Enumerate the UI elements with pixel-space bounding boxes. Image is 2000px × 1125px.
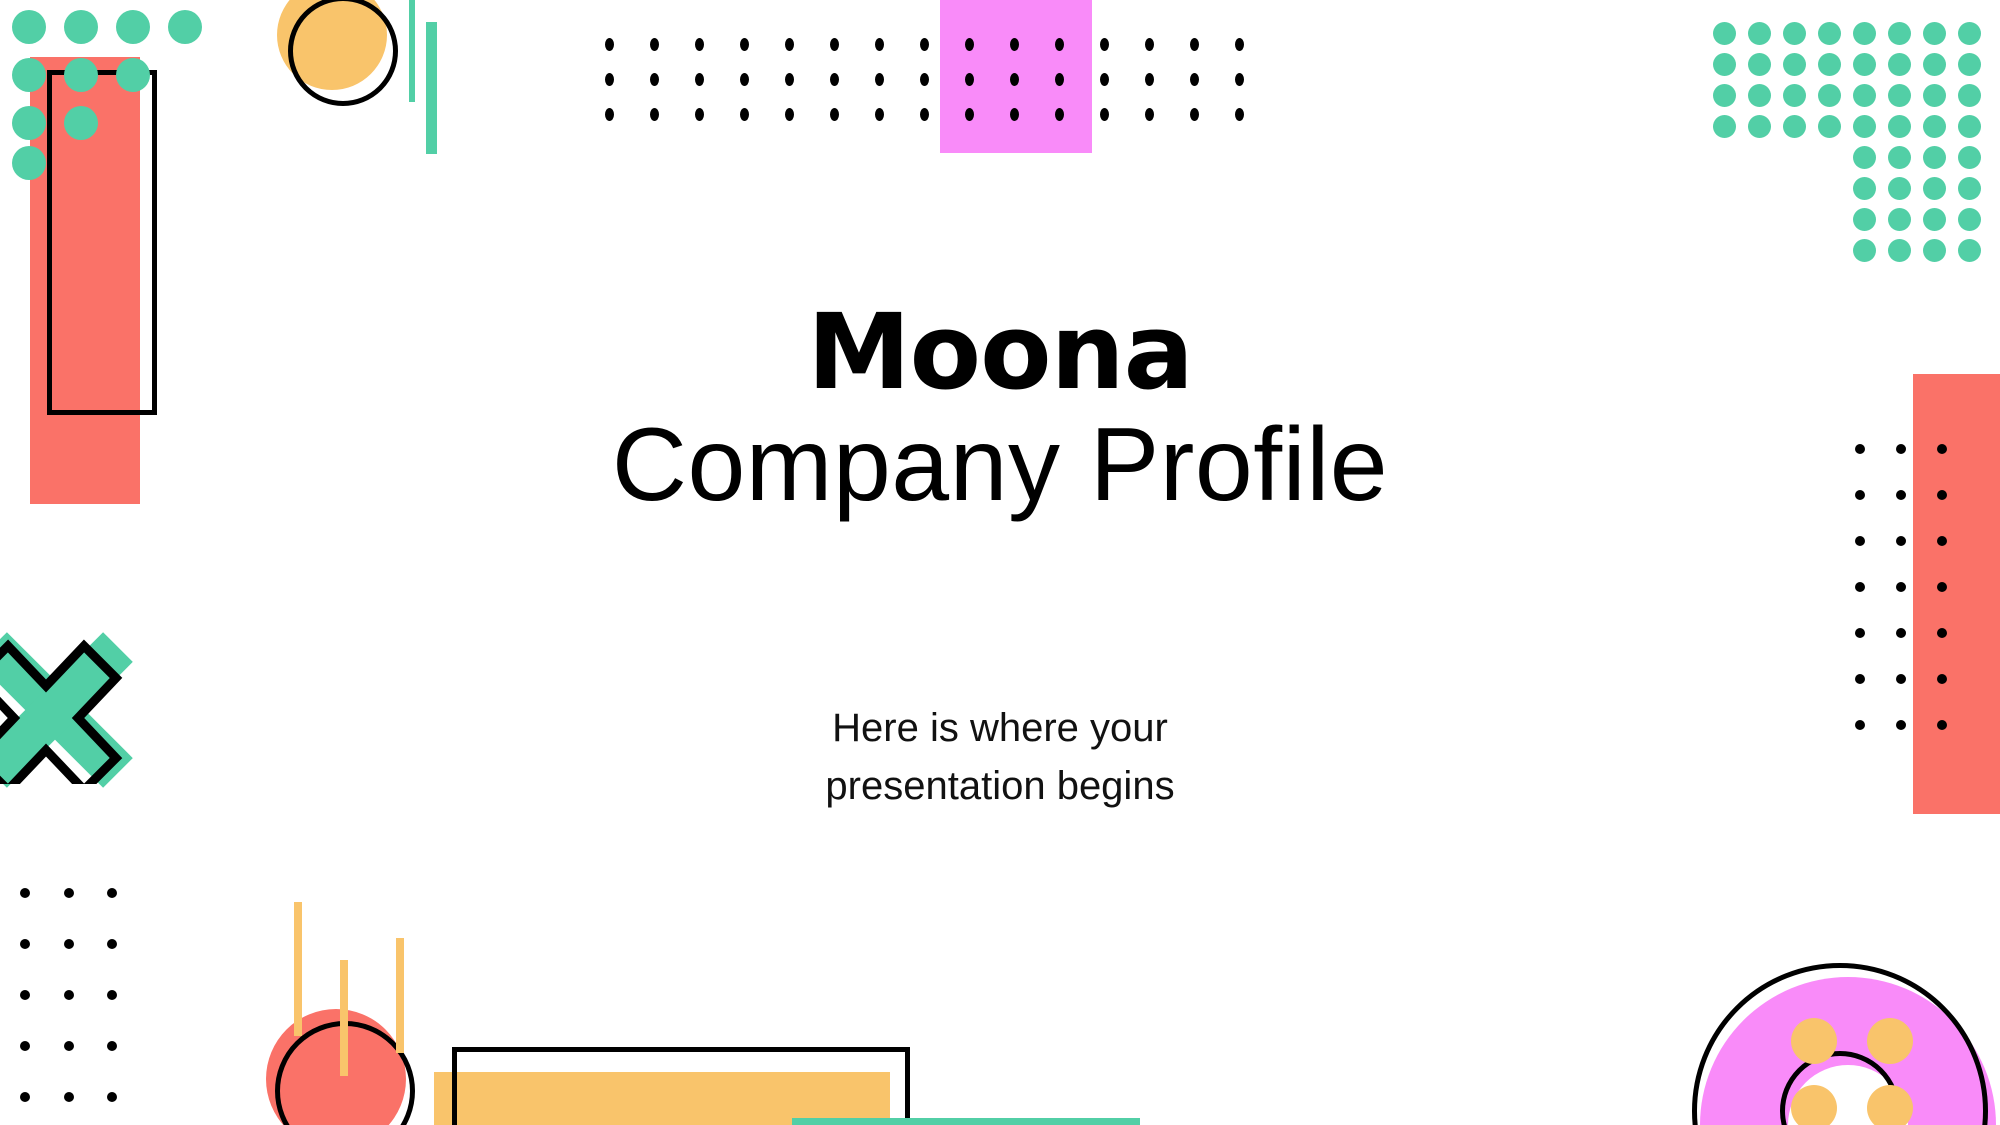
- teal-grid-dot: [1853, 239, 1876, 262]
- teal-grid-dot: [1888, 146, 1911, 169]
- grid-dot: [107, 939, 117, 949]
- grid-dot: [965, 108, 974, 121]
- grid-dot: [695, 38, 704, 51]
- grid-dot: [920, 38, 929, 51]
- teal-grid-dot: [1853, 115, 1876, 138]
- grid-dot: [1855, 536, 1865, 546]
- presentation-slide: Moona Company Profile Here is where your…: [0, 0, 2000, 1125]
- grid-dot: [1055, 73, 1064, 86]
- grid-dot: [1937, 536, 1947, 546]
- grid-dot: [1855, 582, 1865, 592]
- teal-grid-dot: [1923, 115, 1946, 138]
- grid-dot: [1190, 108, 1199, 121]
- teal-grid-dot: [1958, 53, 1981, 76]
- grid-dot: [875, 108, 884, 121]
- grid-dot: [920, 108, 929, 121]
- teal-grid-dot: [1958, 208, 1981, 231]
- grid-dot: [1937, 628, 1947, 638]
- teal-grid-dot: [1888, 84, 1911, 107]
- grid-dot: [1235, 108, 1244, 121]
- grid-dot: [107, 1092, 117, 1102]
- grid-dot: [1055, 38, 1064, 51]
- grid-dot: [740, 73, 749, 86]
- teal-grid-dot: [1888, 239, 1911, 262]
- outline-rectangle-bottom: [452, 1047, 910, 1125]
- teal-grid-dot: [1888, 115, 1911, 138]
- grid-dot: [1855, 720, 1865, 730]
- grid-dot: [1010, 108, 1019, 121]
- teal-grid-dot: [1783, 115, 1806, 138]
- grid-dot: [64, 1041, 74, 1051]
- grid-dot: [785, 38, 794, 51]
- grid-dot: [605, 73, 614, 86]
- grid-dot: [1145, 38, 1154, 51]
- yellow-vertical-line-tall: [294, 902, 302, 1036]
- teal-grid-dot: [1853, 84, 1876, 107]
- grid-dot: [1937, 674, 1947, 684]
- grid-dot: [64, 888, 74, 898]
- grid-dot: [875, 73, 884, 86]
- teal-grid-dot: [1958, 239, 1981, 262]
- teal-grid-dot: [1923, 177, 1946, 200]
- grid-dot: [20, 888, 30, 898]
- teal-grid-dot: [1923, 146, 1946, 169]
- teal-grid-dot: [1818, 84, 1841, 107]
- slide-tagline: Here is where your presentation begins: [400, 527, 1600, 815]
- grid-dot: [1855, 444, 1865, 454]
- yellow-circle-ring-bottom-right: [1867, 1085, 1913, 1125]
- grid-dot: [695, 73, 704, 86]
- teal-vertical-line-long: [426, 22, 437, 154]
- grid-dot: [1937, 444, 1947, 454]
- teal-grid-dot: [1748, 22, 1771, 45]
- outline-ring-bottom-right: [1692, 963, 1988, 1125]
- teal-dot: [12, 58, 46, 92]
- grid-dot: [1937, 720, 1947, 730]
- page-subtitle: Company Profile: [400, 404, 1600, 527]
- teal-grid-dot: [1958, 146, 1981, 169]
- teal-grid-dot: [1958, 177, 1981, 200]
- teal-grid-dot: [1923, 22, 1946, 45]
- teal-grid-dot: [1888, 22, 1911, 45]
- grid-dot: [740, 108, 749, 121]
- grid-dot: [605, 108, 614, 121]
- teal-grid-dot: [1958, 84, 1981, 107]
- yellow-vertical-line-mid: [340, 960, 348, 1076]
- grid-dot: [605, 38, 614, 51]
- grid-dot: [1896, 536, 1906, 546]
- teal-grid-dot: [1853, 22, 1876, 45]
- tagline-line-1: Here is where your: [832, 706, 1168, 750]
- teal-grid-dot: [1818, 115, 1841, 138]
- grid-dot: [20, 1092, 30, 1102]
- coral-rectangle-right: [1913, 374, 2000, 814]
- teal-dot: [116, 10, 150, 44]
- teal-grid-dot: [1783, 53, 1806, 76]
- grid-dot: [1896, 582, 1906, 592]
- teal-grid-dot: [1888, 53, 1911, 76]
- teal-grid-dot: [1783, 84, 1806, 107]
- teal-grid-dot: [1713, 22, 1736, 45]
- grid-dot: [1235, 73, 1244, 86]
- teal-grid-dot: [1748, 115, 1771, 138]
- teal-dot: [12, 146, 46, 180]
- teal-dot: [64, 106, 98, 140]
- grid-dot: [650, 38, 659, 51]
- teal-grid-dot: [1923, 84, 1946, 107]
- teal-grid-dot: [1888, 208, 1911, 231]
- grid-dot: [1100, 38, 1109, 51]
- teal-dot: [12, 106, 46, 140]
- teal-grid-dot: [1923, 239, 1946, 262]
- teal-grid-dot: [1783, 22, 1806, 45]
- teal-grid-dot: [1958, 22, 1981, 45]
- grid-dot: [650, 73, 659, 86]
- yellow-circle-ring-bottom-left: [1791, 1085, 1837, 1125]
- grid-dot: [875, 38, 884, 51]
- teal-dot: [64, 10, 98, 44]
- teal-dot: [64, 58, 98, 92]
- grid-dot: [20, 990, 30, 1000]
- teal-grid-dot: [1713, 115, 1736, 138]
- yellow-circle-ring-top-right: [1867, 1018, 1913, 1064]
- grid-dot: [1010, 73, 1019, 86]
- grid-dot: [64, 990, 74, 1000]
- grid-dot: [107, 1041, 117, 1051]
- grid-dot: [1145, 73, 1154, 86]
- grid-dot: [1055, 108, 1064, 121]
- teal-grid-dot: [1748, 53, 1771, 76]
- grid-dot: [1100, 108, 1109, 121]
- cross-outline-svg: [0, 624, 170, 784]
- grid-dot: [785, 108, 794, 121]
- grid-dot: [1896, 720, 1906, 730]
- grid-dot: [965, 38, 974, 51]
- page-title: Moona: [400, 300, 1600, 404]
- grid-dot: [1100, 73, 1109, 86]
- yellow-vertical-line-short: [396, 938, 404, 1053]
- grid-dot: [920, 73, 929, 86]
- grid-dot: [1896, 490, 1906, 500]
- tagline-line-2: presentation begins: [825, 764, 1174, 808]
- grid-dot: [1896, 674, 1906, 684]
- grid-dot: [1896, 444, 1906, 454]
- teal-grid-dot: [1713, 53, 1736, 76]
- grid-dot: [1855, 628, 1865, 638]
- teal-grid-dot: [1853, 53, 1876, 76]
- grid-dot: [1190, 38, 1199, 51]
- grid-dot: [64, 1092, 74, 1102]
- teal-grid-dot: [1958, 115, 1981, 138]
- teal-dot: [168, 10, 202, 44]
- grid-dot: [650, 108, 659, 121]
- teal-horizontal-line: [792, 1118, 1140, 1125]
- grid-dot: [830, 38, 839, 51]
- grid-dot: [1235, 38, 1244, 51]
- grid-dot: [64, 939, 74, 949]
- teal-grid-dot: [1853, 146, 1876, 169]
- grid-dot: [107, 888, 117, 898]
- slide-text-block: Moona Company Profile Here is where your…: [400, 300, 1600, 815]
- grid-dot: [830, 73, 839, 86]
- yellow-circle-ring-top-left: [1791, 1018, 1837, 1064]
- teal-grid-dot: [1818, 22, 1841, 45]
- outline-cross-left: [0, 632, 148, 762]
- teal-grid-dot: [1748, 84, 1771, 107]
- grid-dot: [830, 108, 839, 121]
- grid-dot: [740, 38, 749, 51]
- teal-grid-dot: [1923, 208, 1946, 231]
- grid-dot: [1937, 582, 1947, 592]
- teal-grid-dot: [1853, 208, 1876, 231]
- grid-dot: [20, 1041, 30, 1051]
- teal-vertical-line-short: [409, 0, 415, 102]
- grid-dot: [107, 990, 117, 1000]
- teal-grid-dot: [1818, 53, 1841, 76]
- grid-dot: [1010, 38, 1019, 51]
- grid-dot: [1896, 628, 1906, 638]
- outline-circle-top: [288, 0, 398, 106]
- grid-dot: [1145, 108, 1154, 121]
- grid-dot: [20, 939, 30, 949]
- grid-dot: [1855, 490, 1865, 500]
- teal-grid-dot: [1713, 84, 1736, 107]
- grid-dot: [1855, 674, 1865, 684]
- grid-dot: [695, 108, 704, 121]
- grid-dot: [785, 73, 794, 86]
- teal-grid-dot: [1923, 53, 1946, 76]
- teal-dot: [12, 10, 46, 44]
- teal-grid-dot: [1853, 177, 1876, 200]
- teal-dot: [116, 58, 150, 92]
- grid-dot: [1190, 73, 1199, 86]
- grid-dot: [965, 73, 974, 86]
- grid-dot: [1937, 490, 1947, 500]
- teal-grid-dot: [1888, 177, 1911, 200]
